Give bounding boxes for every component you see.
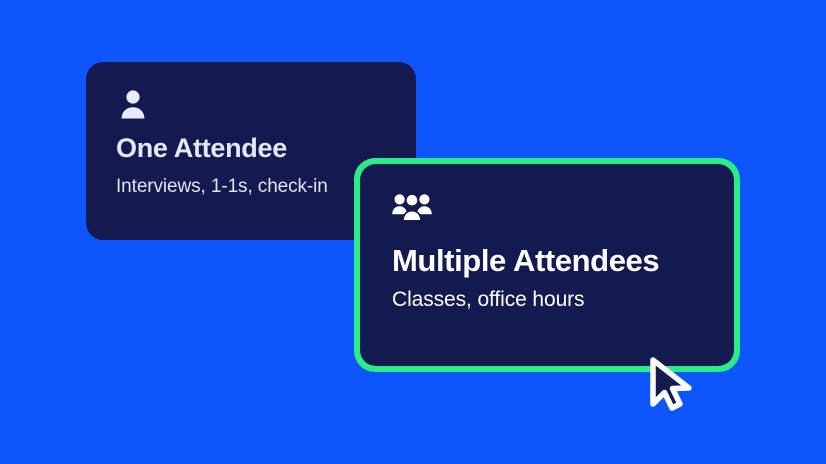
option-title-one-attendee: One Attendee <box>116 134 386 164</box>
single-person-icon <box>116 88 150 122</box>
option-card-multiple-attendees[interactable]: Multiple Attendees Classes, office hours <box>354 158 740 372</box>
event-type-selector-canvas: One Attendee Interviews, 1-1s, check-in … <box>0 0 826 464</box>
option-subtitle-one-attendee: Interviews, 1-1s, check-in <box>116 176 386 198</box>
group-people-icon <box>392 192 432 222</box>
option-subtitle-multiple-attendees: Classes, office hours <box>392 288 702 312</box>
option-title-multiple-attendees: Multiple Attendees <box>392 244 702 278</box>
option-card-multiple-attendees-inner: Multiple Attendees Classes, office hours <box>360 164 734 366</box>
